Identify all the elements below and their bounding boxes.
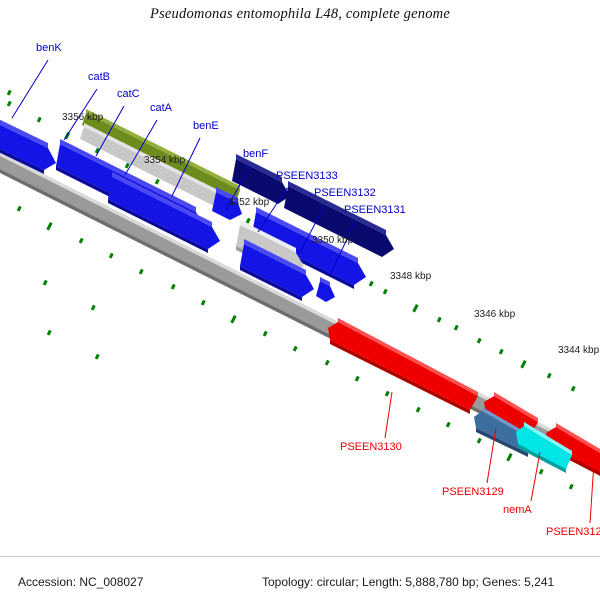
sequence-map-canvas[interactable]: benK catB catC catA benE benF PSEEN3133 … bbox=[0, 0, 600, 556]
gene-label-catC[interactable]: catC bbox=[117, 89, 140, 100]
gene-label-catB[interactable]: catB bbox=[88, 72, 110, 83]
ruler-tick-3350: 3350 kbp bbox=[312, 236, 353, 246]
topology-text: Topology: circular; Length: 5,888,780 bp… bbox=[262, 575, 554, 589]
gene-label-catA[interactable]: catA bbox=[150, 103, 172, 114]
gene-label-nemA[interactable]: nemA bbox=[503, 505, 532, 516]
gene-label-PSEEN3130[interactable]: PSEEN3130 bbox=[340, 442, 402, 453]
gene-label-PSEEN3133[interactable]: PSEEN3133 bbox=[276, 171, 338, 182]
ruler-tick-3356: 3356 kbp bbox=[62, 113, 103, 123]
ruler-tick-3344: 3344 kbp bbox=[558, 346, 599, 356]
gene-label-PSEEN3132[interactable]: PSEEN3132 bbox=[314, 188, 376, 199]
gene-label-benF[interactable]: benF bbox=[243, 149, 268, 160]
gene-arrow-group-forward[interactable] bbox=[0, 109, 394, 302]
ruler-tick-3348: 3348 kbp bbox=[390, 272, 431, 282]
gene-label-PSEEN3129[interactable]: PSEEN3129 bbox=[442, 487, 504, 498]
accession-text: Accession: NC_008027 bbox=[18, 575, 143, 589]
status-bar: Accession: NC_008027 Topology: circular;… bbox=[0, 556, 600, 601]
genome-map-view: Pseudomonas entomophila L48, complete ge… bbox=[0, 0, 600, 600]
gene-arrow-group-reverse[interactable] bbox=[328, 318, 600, 478]
gene-arrow-PSEEN3130[interactable] bbox=[328, 318, 478, 414]
ruler-tick-3346: 3346 kbp bbox=[474, 310, 515, 320]
gene-label-benK[interactable]: benK bbox=[36, 43, 62, 54]
ruler-tick-3352: 3352 kbp bbox=[228, 198, 269, 208]
gene-label-PSEEN3131[interactable]: PSEEN3131 bbox=[344, 205, 406, 216]
gene-arrow-PSEEN3131[interactable] bbox=[316, 277, 335, 302]
map-graphics bbox=[0, 0, 600, 556]
ruler-tick-3354: 3354 kbp bbox=[144, 156, 185, 166]
gene-label-benE[interactable]: benE bbox=[193, 121, 219, 132]
gene-label-PSEEN3127[interactable]: PSEEN3127 bbox=[546, 527, 600, 538]
